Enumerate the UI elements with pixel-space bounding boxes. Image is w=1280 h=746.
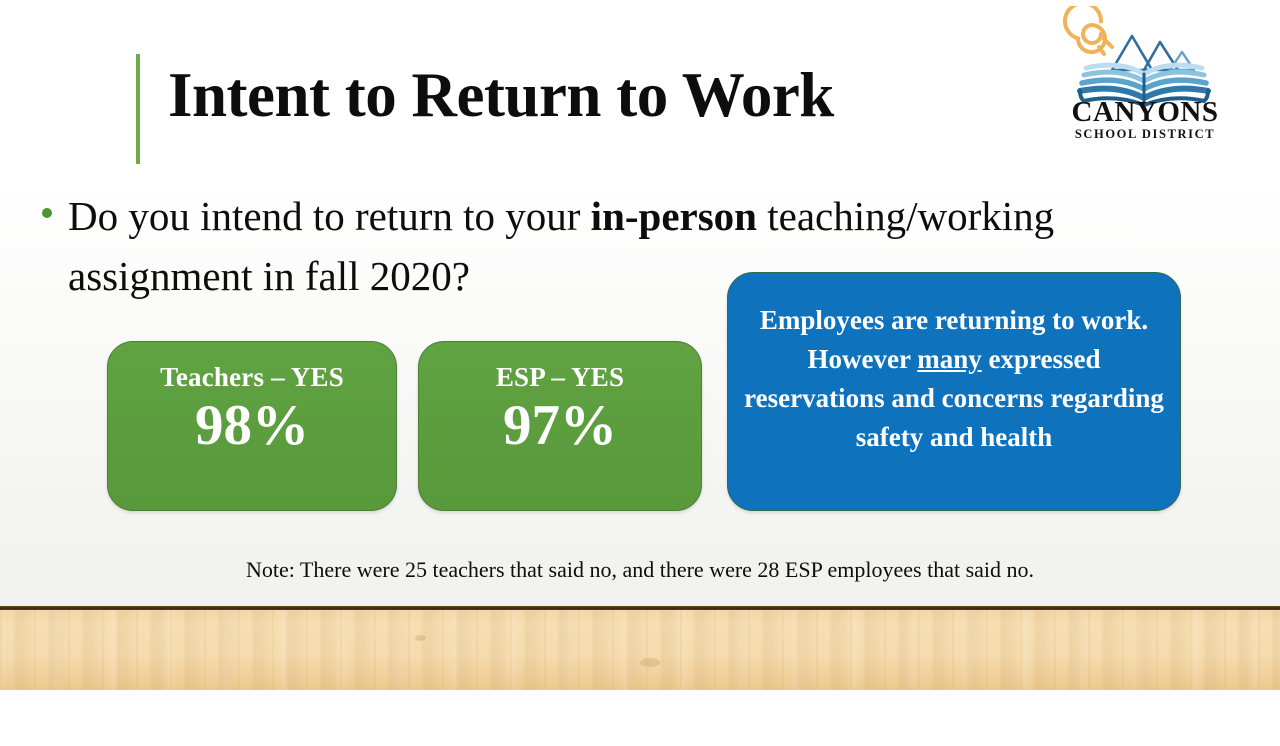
slide-footer-area — [0, 690, 1280, 746]
title-accent-bar — [136, 54, 140, 164]
sun-spiral-icon — [1065, 6, 1112, 54]
stat-value: 97% — [419, 393, 701, 458]
bullet-text-emphasis: in-person — [591, 193, 757, 239]
bullet-dot-icon — [42, 208, 52, 218]
callout-text: Employees are returning to work. However… — [728, 273, 1180, 458]
bullet-text-before: Do you intend to return to your — [68, 193, 591, 239]
stat-label: Teachers – YES — [108, 342, 396, 393]
canyons-school-district-logo: CANYONS SCHOOL DISTRICT — [1060, 6, 1230, 148]
wood-knot — [415, 635, 426, 641]
logo-subtitle: SCHOOL DISTRICT — [1060, 128, 1230, 141]
callout-text-underlined: many — [917, 344, 982, 374]
stat-label: ESP – YES — [419, 342, 701, 393]
stat-card-esp: ESP – YES 97% — [418, 341, 702, 511]
slide-canvas: Intent to Return to Work — [0, 0, 1280, 746]
page-title: Intent to Return to Work — [168, 62, 1048, 128]
wood-band-texture — [0, 610, 1280, 690]
stat-value: 98% — [108, 393, 396, 458]
callout-card-employee-sentiment: Employees are returning to work. However… — [727, 272, 1181, 511]
stat-card-teachers: Teachers – YES 98% — [107, 341, 397, 511]
logo-wordmark: CANYONS — [1060, 98, 1230, 127]
wood-knot — [640, 658, 660, 667]
footnote-note: Note: There were 25 teachers that said n… — [0, 557, 1280, 583]
